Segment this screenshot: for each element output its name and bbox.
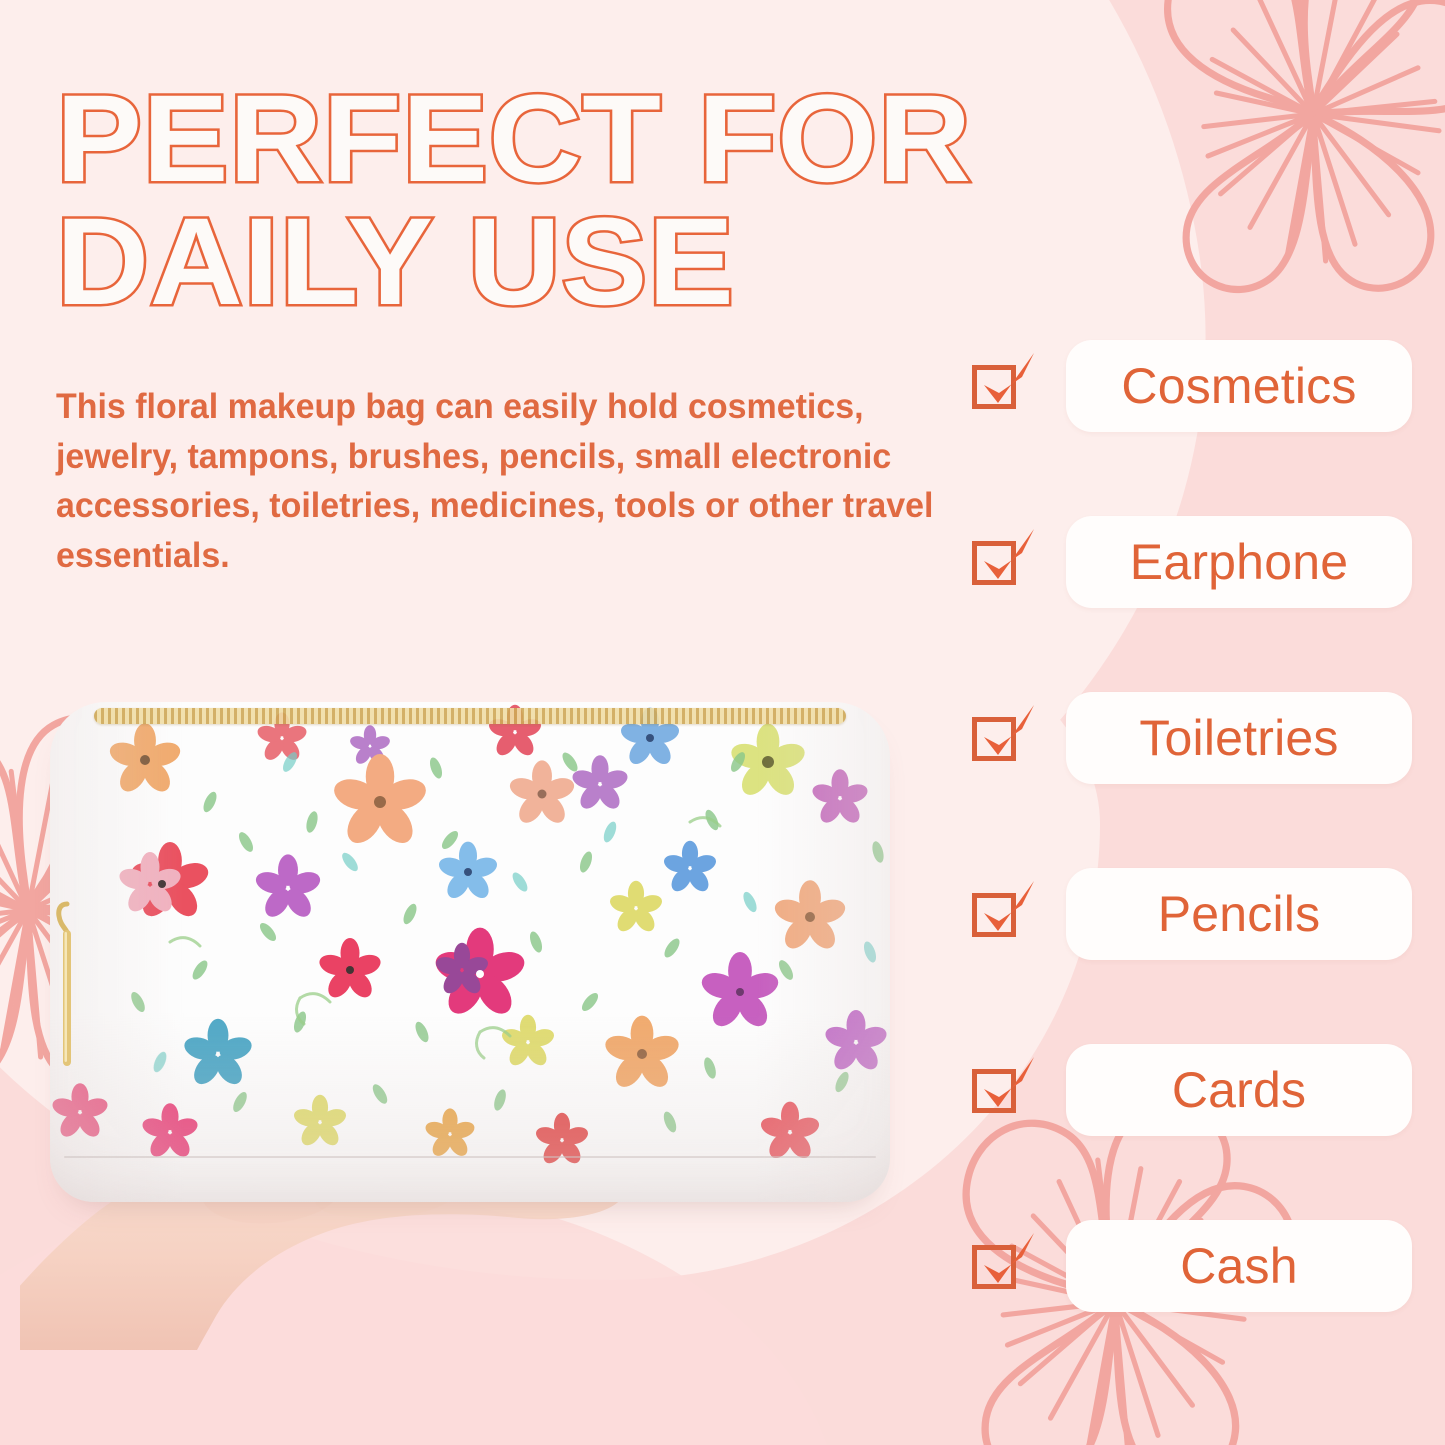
hibiscus-flower-icon bbox=[1103, 0, 1445, 324]
list-item[interactable]: Earphone bbox=[972, 514, 1412, 610]
feature-pill[interactable]: Earphone bbox=[1066, 516, 1412, 608]
checkbox-checked-icon[interactable] bbox=[972, 531, 1038, 593]
makeup-bag bbox=[50, 702, 890, 1202]
list-item[interactable]: Pencils bbox=[972, 866, 1412, 962]
description-text: This floral makeup bag can easily hold c… bbox=[56, 382, 934, 581]
feature-pill[interactable]: Toiletries bbox=[1066, 692, 1412, 784]
feature-label: Toiletries bbox=[1139, 709, 1338, 767]
feature-label: Cosmetics bbox=[1121, 357, 1356, 415]
zipper bbox=[94, 708, 846, 724]
feature-pill[interactable]: Pencils bbox=[1066, 868, 1412, 960]
checkbox-checked-icon[interactable] bbox=[972, 1059, 1038, 1121]
list-item[interactable]: Cash bbox=[972, 1218, 1412, 1314]
feature-label: Cash bbox=[1180, 1237, 1298, 1295]
product-photo bbox=[10, 660, 940, 1350]
feature-label: Pencils bbox=[1158, 885, 1321, 943]
floral-pattern bbox=[50, 702, 890, 1202]
page-title: PERFECT FOR DAILY USE bbox=[56, 78, 1013, 324]
feature-label: Cards bbox=[1172, 1061, 1306, 1119]
checkbox-checked-icon[interactable] bbox=[972, 883, 1038, 945]
checkbox-checked-icon[interactable] bbox=[972, 355, 1038, 417]
list-item[interactable]: Cards bbox=[972, 1042, 1412, 1138]
product-infographic: PERFECT FOR DAILY USE This floral makeup… bbox=[0, 0, 1445, 1445]
checkbox-checked-icon[interactable] bbox=[972, 1235, 1038, 1297]
list-item[interactable]: Cosmetics bbox=[972, 338, 1412, 434]
list-item[interactable]: Toiletries bbox=[972, 690, 1412, 786]
feature-pill[interactable]: Cash bbox=[1066, 1220, 1412, 1312]
feature-pill[interactable]: Cosmetics bbox=[1066, 340, 1412, 432]
checkbox-checked-icon[interactable] bbox=[972, 707, 1038, 769]
zipper-pull-icon bbox=[56, 898, 78, 1078]
feature-checklist: Cosmetics Earphone Toiletries bbox=[972, 338, 1412, 1314]
bag-seam bbox=[64, 1156, 876, 1158]
feature-pill[interactable]: Cards bbox=[1066, 1044, 1412, 1136]
feature-label: Earphone bbox=[1130, 533, 1348, 591]
